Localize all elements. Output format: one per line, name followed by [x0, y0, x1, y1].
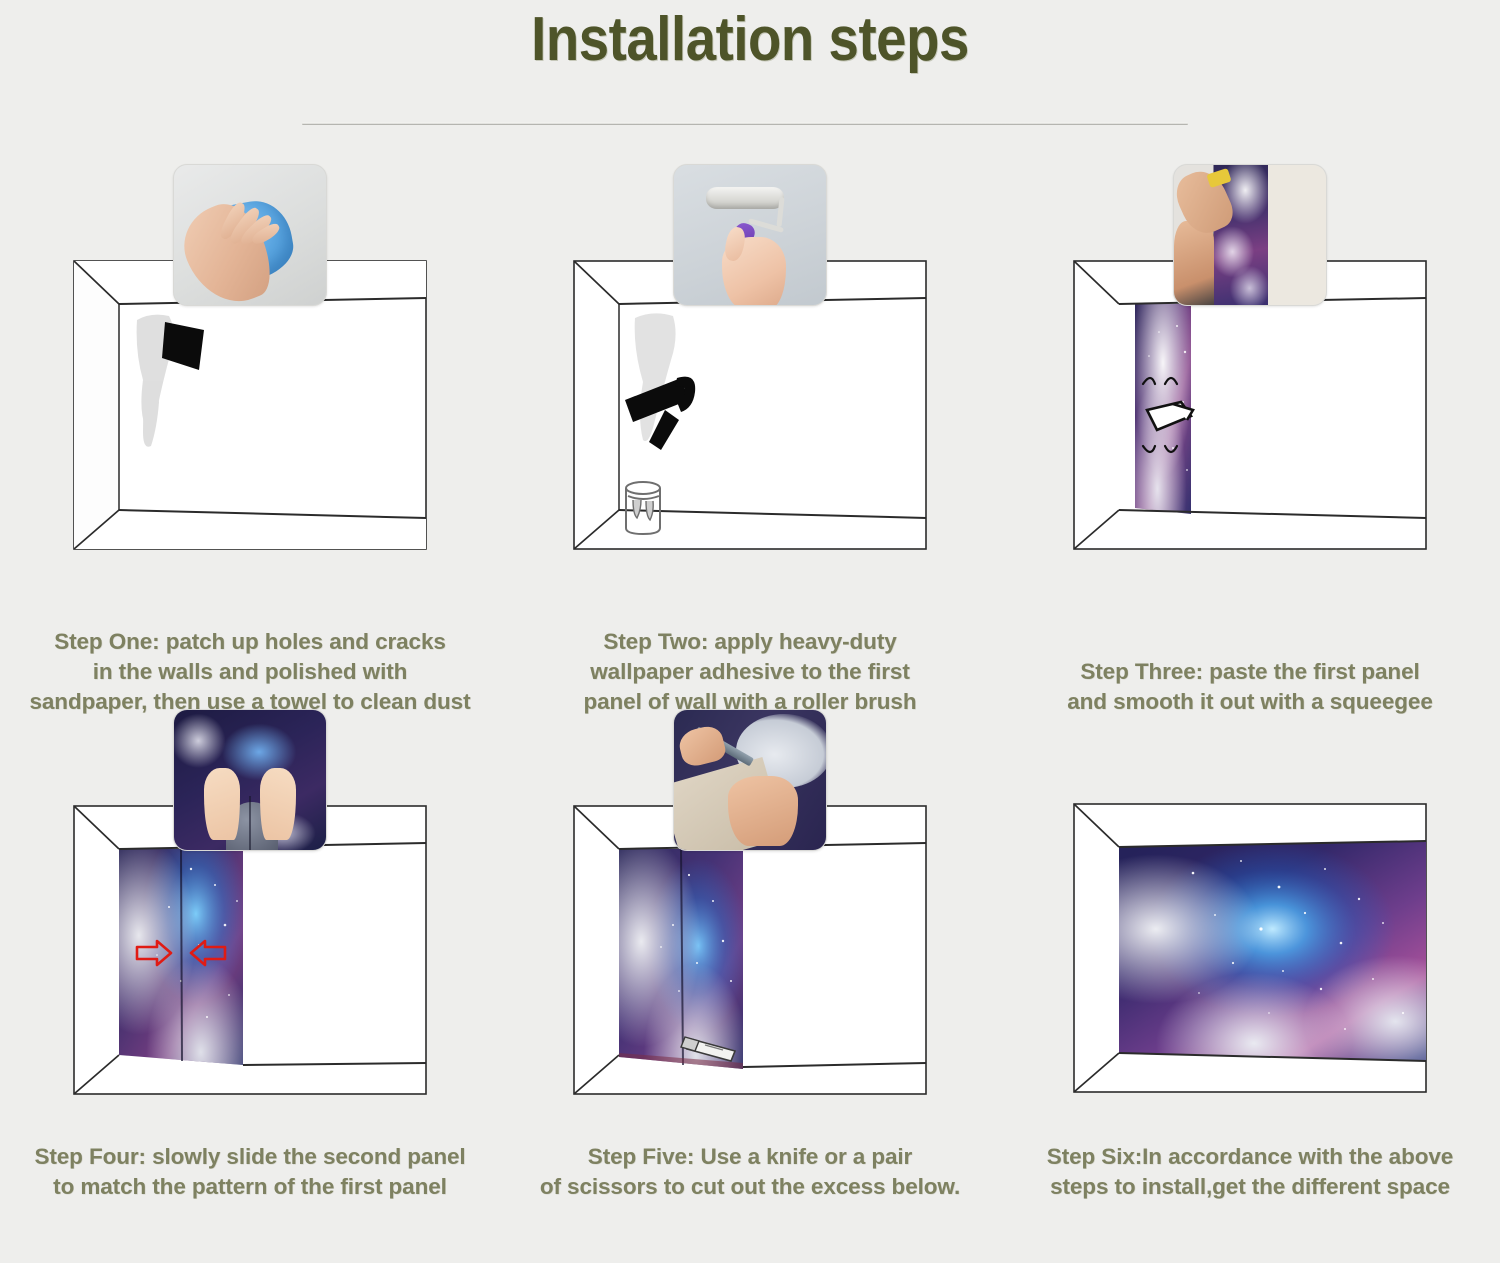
thumbnail-hand-wiping-wall: [173, 164, 327, 306]
thumbnail-paint-roller: [673, 164, 827, 306]
step-card-two: Step Two: apply heavy-duty wallpaper adh…: [500, 150, 1000, 695]
roller-icon: [706, 187, 784, 209]
galaxy-mural-full-wall: [1119, 841, 1426, 1061]
room-diagram-step-six: [1073, 803, 1427, 1093]
step-card-six: Step Six:In accordance with the above st…: [1000, 695, 1500, 1240]
thumbnail-smoothing-panel: [1173, 164, 1327, 306]
thumbnail-hands-aligning-panels: [173, 709, 327, 851]
panel-seam: [181, 849, 182, 1061]
second-hand-icon: [676, 723, 727, 769]
caption-step-five: Step Five: Use a knife or a pair of scis…: [500, 1142, 1000, 1202]
steps-grid: Step One: patch up holes and cracks in t…: [0, 150, 1500, 1260]
step-card-four: Step Four: slowly slide the second panel…: [0, 695, 500, 1240]
hand-icon: [728, 776, 798, 846]
thumbnail-knife-cutting: [673, 709, 827, 851]
step-card-three: Step Three: paste the first panel and sm…: [1000, 150, 1500, 695]
galaxy-panels-trimming: [619, 849, 743, 1069]
step-card-one: Step One: patch up holes and cracks in t…: [0, 150, 500, 695]
panel-seam: [249, 796, 251, 850]
caption-step-four: Step Four: slowly slide the second panel…: [0, 1142, 500, 1202]
title-divider: [302, 122, 1188, 125]
right-hand-icon: [260, 768, 296, 840]
left-hand-icon: [204, 768, 240, 840]
caption-step-six: Step Six:In accordance with the above st…: [1000, 1142, 1500, 1202]
page-title: Installation steps: [90, 4, 1410, 75]
step-card-five: Step Five: Use a knife or a pair of scis…: [500, 695, 1000, 1240]
